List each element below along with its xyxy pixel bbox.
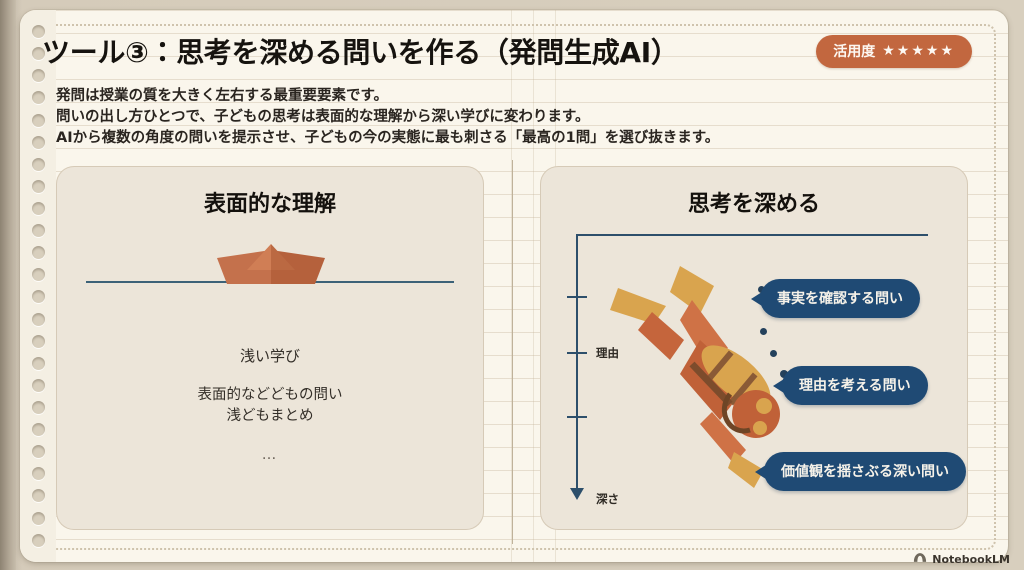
binder-hole — [32, 202, 45, 215]
binder-hole — [32, 534, 45, 547]
description-block: 発問は授業の質を大きく左右する最重要要素です。 問いの出し方ひとつで、子どもの思… — [56, 86, 956, 149]
binder-hole — [32, 467, 45, 480]
binder-hole — [32, 445, 45, 458]
description-line-3: AIから複数の角度の問いを提示させ、子どもの今の実態に最も刺さる「最高の1問」を… — [56, 128, 956, 149]
binder-hole — [32, 379, 45, 392]
binder-hole — [32, 335, 45, 348]
page-title: ツール③：思考を深める問いを作る（発問生成AI） — [42, 31, 679, 71]
left-card-line-2: 表面的などどもの問い — [56, 385, 484, 406]
right-card-title: 思考を深める — [540, 186, 968, 218]
binding-shadow — [0, 0, 16, 570]
binder-hole — [32, 136, 45, 149]
callout-reason-question[interactable]: 理由を考える問い — [782, 366, 928, 405]
left-card-title: 表面的な理解 — [56, 186, 484, 218]
axis-tick — [567, 296, 587, 298]
callout-fact-question[interactable]: 事実を確認する問い — [760, 279, 920, 318]
binder-hole — [32, 290, 45, 303]
slide-canvas: ツール③：思考を深める問いを作る（発問生成AI） 活用度 ★★★★★ 発問は授業… — [0, 0, 1024, 570]
binder-hole — [32, 224, 45, 237]
binder-hole — [32, 268, 45, 281]
comparison-cards: 表面的な理解 浅い学び 表面的などどもの問い 浅どもまとめ … 思考を — [56, 166, 968, 530]
notebooklm-label: NotebookLM — [932, 553, 1010, 566]
notebooklm-logo-icon — [913, 552, 927, 566]
left-card-line-3: 浅どもまとめ — [56, 406, 484, 427]
rating-stars: ★★★★★ — [882, 43, 955, 59]
axis-tick — [567, 416, 587, 418]
description-line-1: 発問は授業の質を大きく左右する最重要要素です。 — [56, 86, 956, 107]
depth-axis — [576, 234, 578, 492]
card-deep-thinking: 思考を深める 理由 深さ — [540, 166, 968, 530]
binder-hole — [32, 489, 45, 502]
binder-hole — [32, 114, 45, 127]
slide-header: ツール③：思考を深める問いを作る（発問生成AI） 活用度 ★★★★★ — [42, 22, 972, 80]
binder-hole — [32, 246, 45, 259]
notebooklm-watermark: NotebookLM — [913, 552, 1010, 566]
binder-hole — [32, 401, 45, 414]
binder-hole-strip — [20, 10, 56, 562]
paper-boat-icon — [217, 244, 325, 284]
binder-hole — [32, 180, 45, 193]
binder-hole — [32, 91, 45, 104]
left-card-text: 浅い学び 表面的などどもの問い 浅どもまとめ … — [56, 346, 484, 466]
axis-arrow-icon — [570, 488, 584, 500]
binder-hole — [32, 357, 45, 370]
axis-tick — [567, 352, 587, 354]
bubble-icon — [760, 328, 767, 335]
binder-hole — [32, 423, 45, 436]
binder-hole — [32, 158, 45, 171]
callout-values-question[interactable]: 価値観を揺さぶる深い問い — [764, 452, 966, 491]
water-surface-line — [576, 234, 928, 236]
binder-hole — [32, 512, 45, 525]
status-badge: 活用度 ★★★★★ — [816, 35, 972, 68]
left-card-line-4: … — [56, 445, 484, 466]
binder-hole — [32, 313, 45, 326]
card-surface-understanding: 表面的な理解 浅い学び 表面的などどもの問い 浅どもまとめ … — [56, 166, 484, 530]
bubble-icon — [770, 350, 777, 357]
badge-label: 活用度 — [833, 41, 875, 61]
left-card-line-1: 浅い学び — [56, 346, 484, 367]
description-line-2: 問いの出し方ひとつで、子どもの思考は表面的な理解から深い学びに変わります。 — [56, 107, 956, 128]
